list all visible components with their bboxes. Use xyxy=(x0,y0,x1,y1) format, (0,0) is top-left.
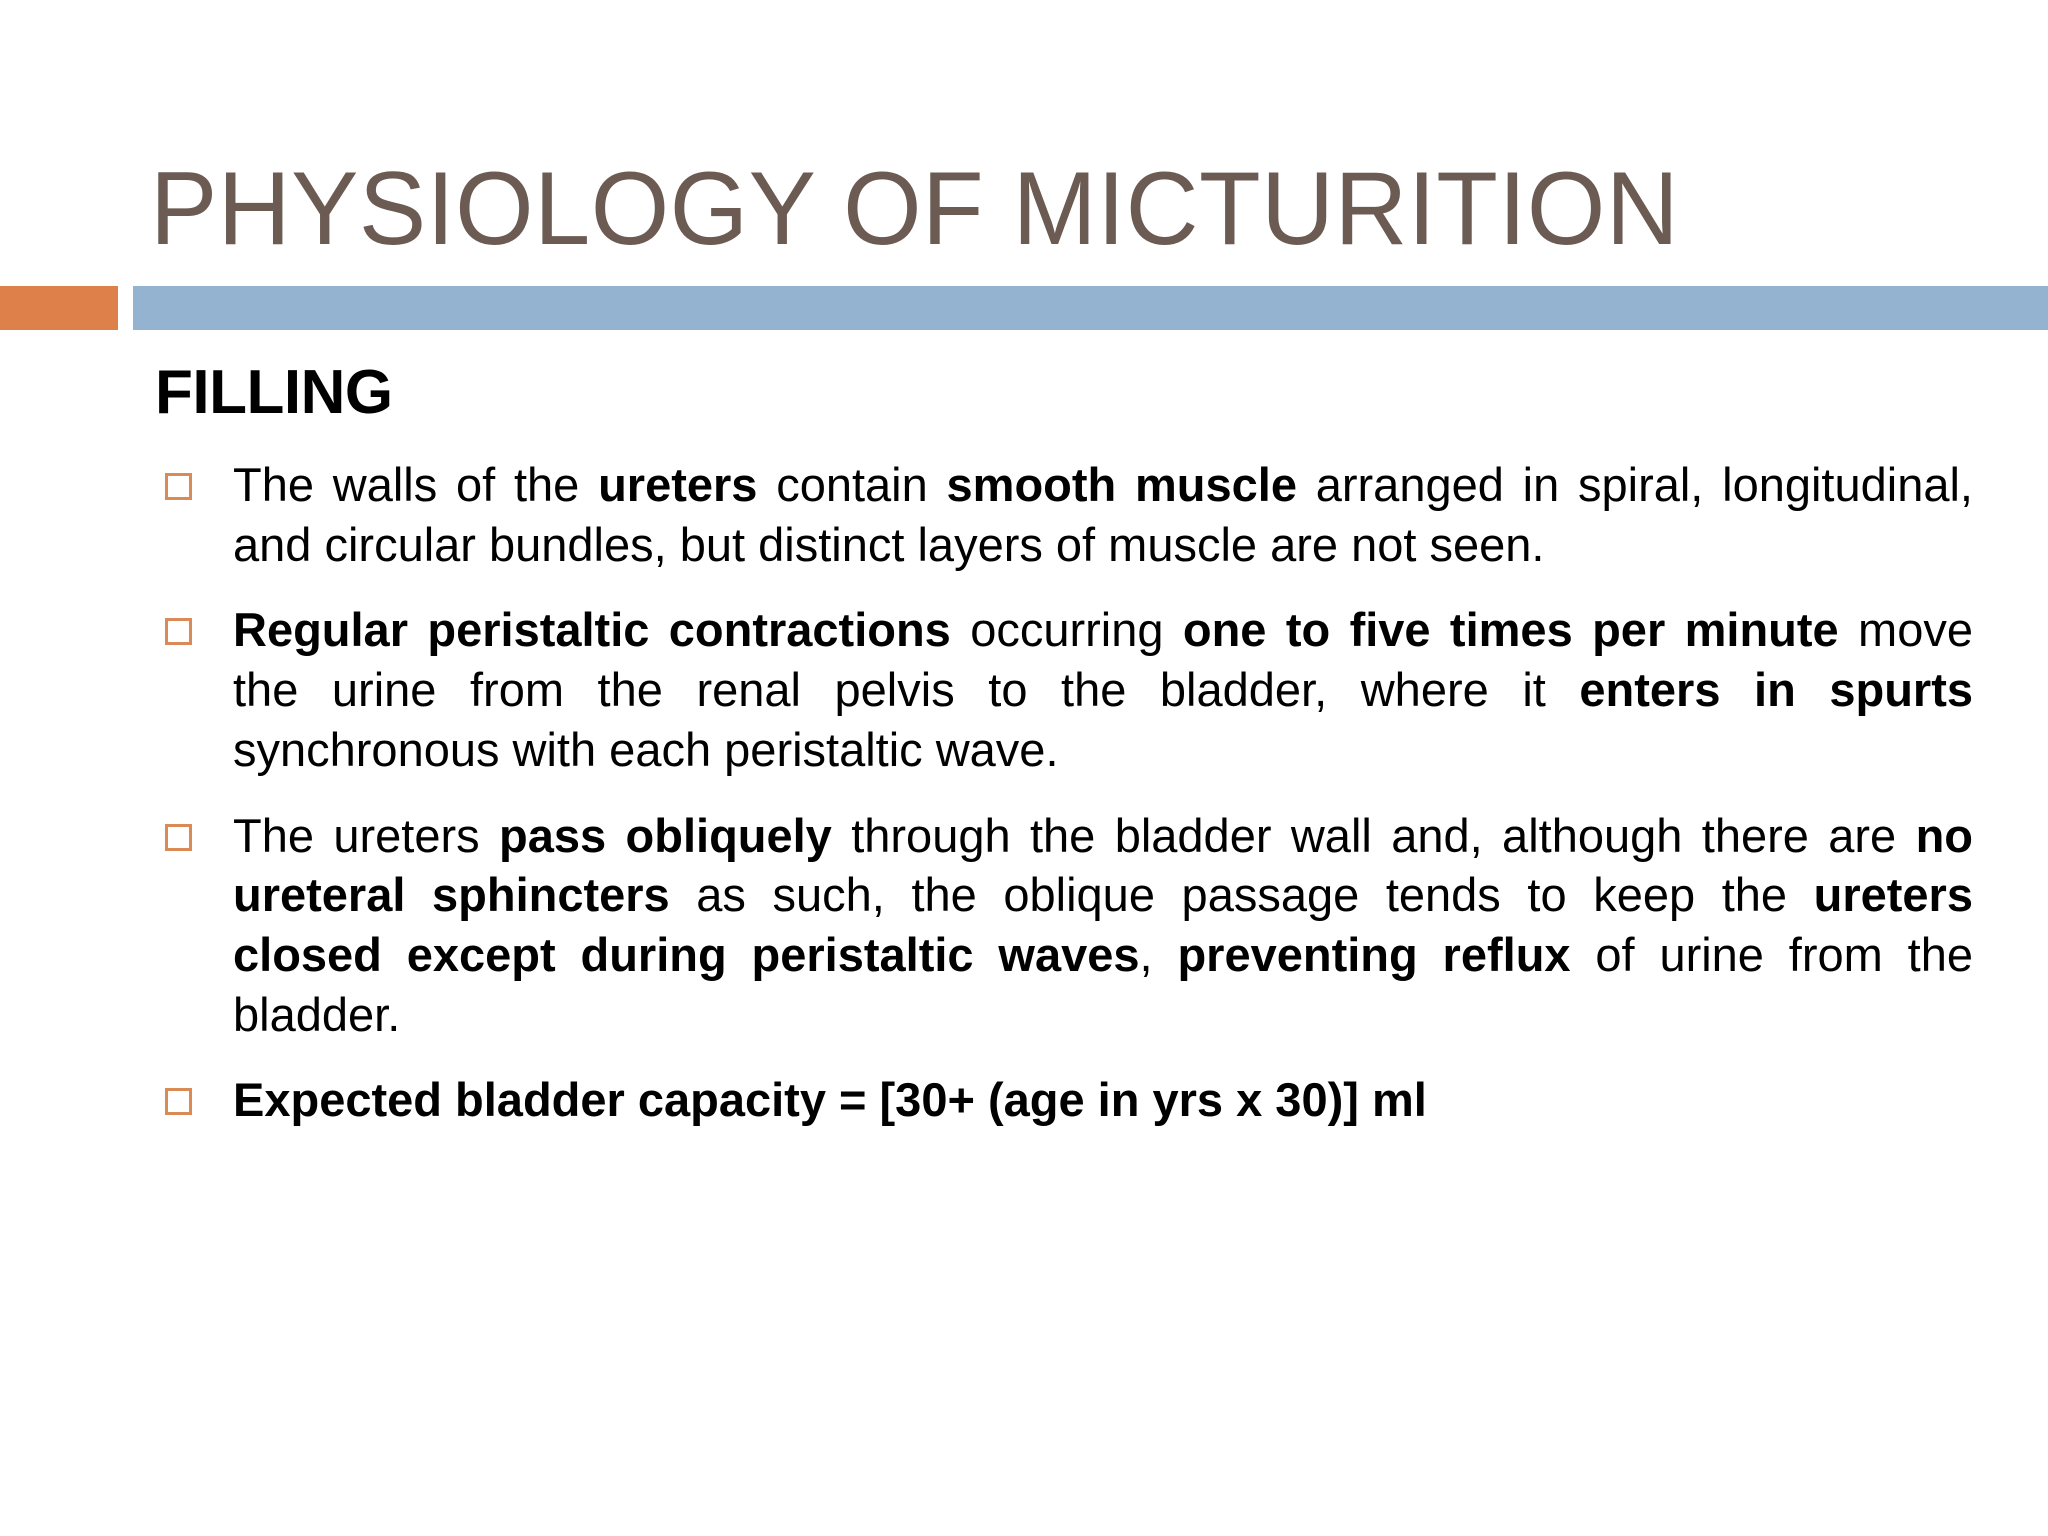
list-item: Regular peristaltic contractions occurri… xyxy=(155,600,1973,779)
divider-accent-block xyxy=(0,286,118,330)
hollow-square-bullet-icon xyxy=(165,1088,192,1115)
list-item-text: Regular peristaltic contractions occurri… xyxy=(233,600,1973,779)
list-item: Expected bladder capacity = [30+ (age in… xyxy=(155,1070,1973,1130)
title-divider xyxy=(0,286,2048,330)
list-item: The walls of the ureters contain smooth … xyxy=(155,455,1973,574)
hollow-square-bullet-icon xyxy=(165,824,192,851)
section-heading: FILLING xyxy=(155,360,1973,425)
hollow-square-bullet-icon xyxy=(165,473,192,500)
hollow-square-bullet-icon xyxy=(165,618,192,645)
slide-title-area: PHYSIOLOGY OF MICTURITION xyxy=(0,0,2048,276)
page-title: PHYSIOLOGY OF MICTURITION xyxy=(150,155,1679,264)
bullet-list: The walls of the ureters contain smooth … xyxy=(155,455,1973,1130)
list-item-text: Expected bladder capacity = [30+ (age in… xyxy=(233,1070,1973,1130)
list-item: The ureters pass obliquely through the b… xyxy=(155,806,1973,1045)
slide-body: FILLING The walls of the ureters contain… xyxy=(0,360,2048,1130)
divider-main-bar xyxy=(133,286,2048,330)
presentation-slide: PHYSIOLOGY OF MICTURITION FILLING The wa… xyxy=(0,0,2048,1536)
list-item-text: The walls of the ureters contain smooth … xyxy=(233,455,1973,574)
list-item-text: The ureters pass obliquely through the b… xyxy=(233,806,1973,1045)
